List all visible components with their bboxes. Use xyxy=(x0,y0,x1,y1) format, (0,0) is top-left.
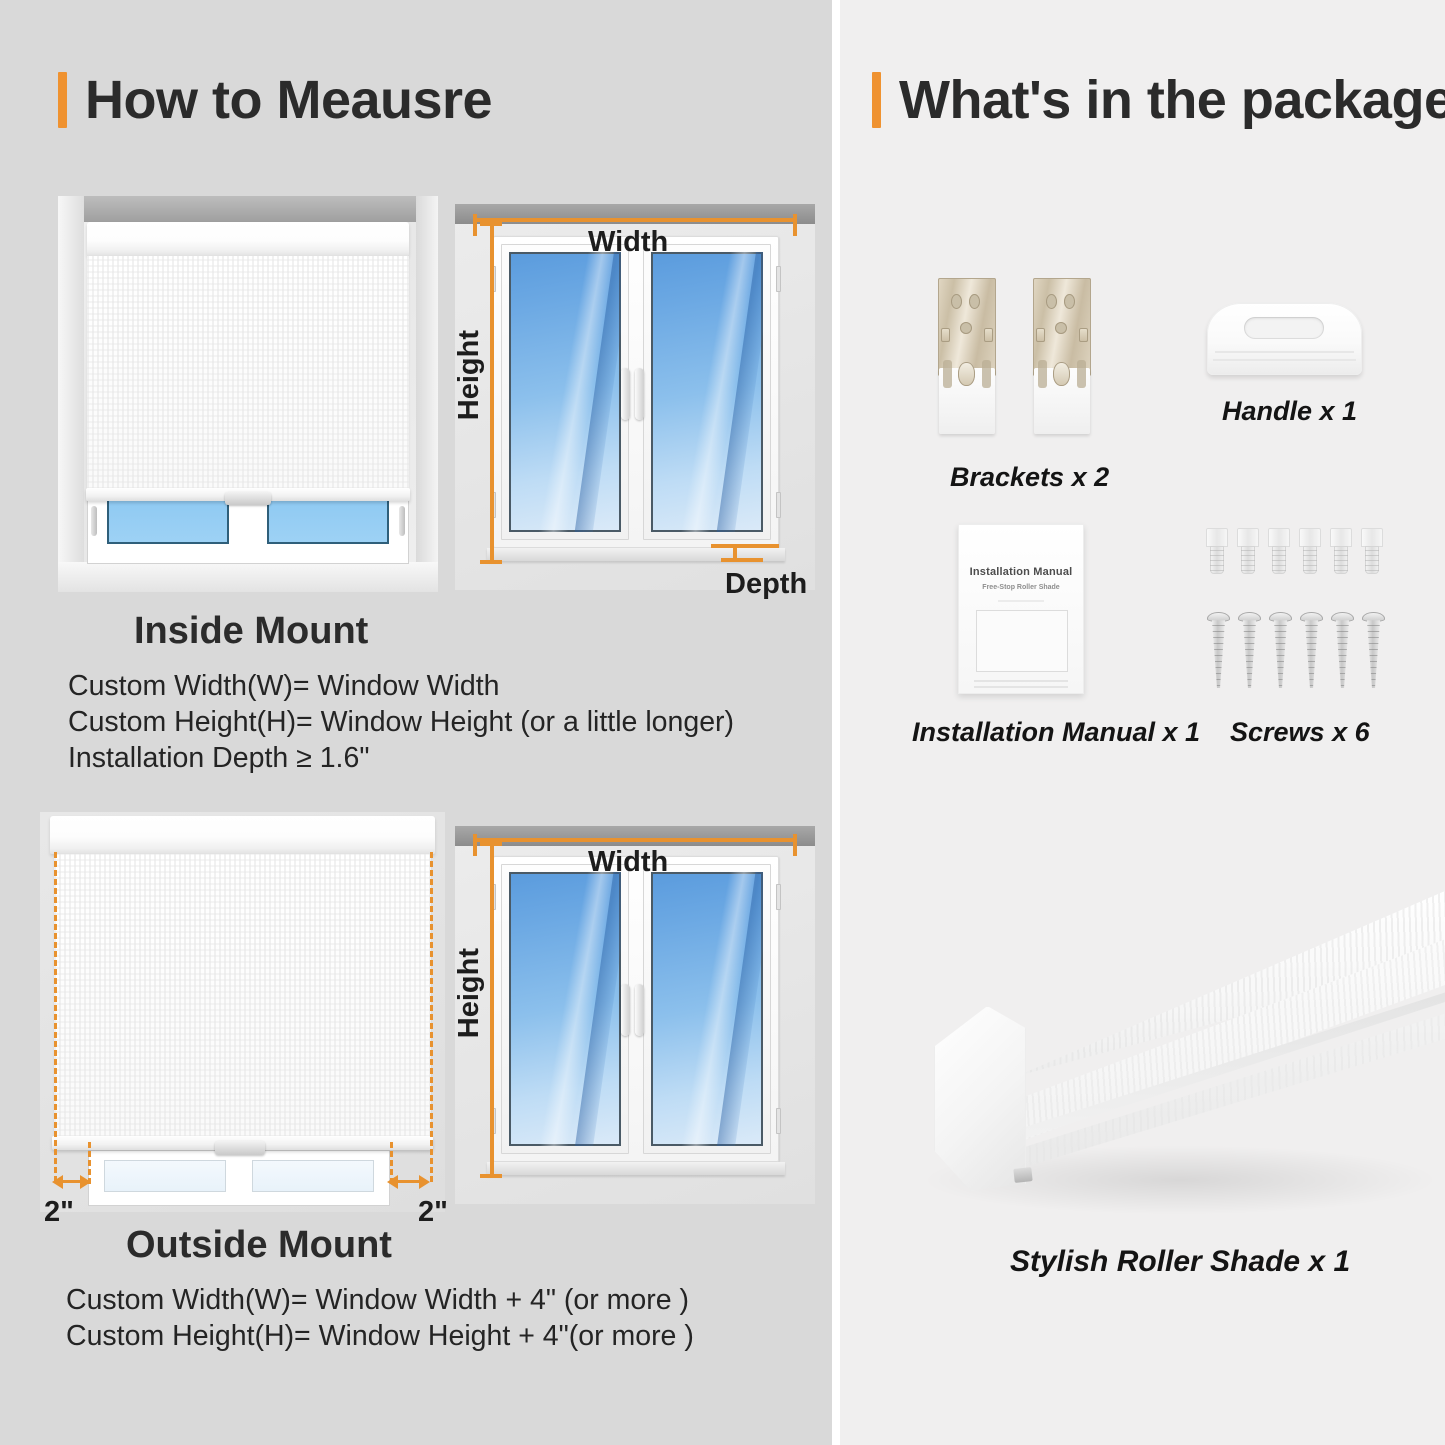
inside-mount-line-3: Installation Depth ≥ 1.6" xyxy=(68,742,369,775)
bracket-slot-left xyxy=(1038,360,1047,388)
window-sash-left xyxy=(501,864,629,1154)
height-measure-cap-bottom xyxy=(480,560,502,564)
depth-measure-line xyxy=(711,544,779,548)
width-label: Width xyxy=(588,846,668,879)
overhang-guide-right xyxy=(430,852,433,1182)
shade-pull-handle xyxy=(215,1141,265,1155)
handle-ridge xyxy=(1215,351,1354,353)
overhang-label-left: 2" xyxy=(44,1196,74,1229)
bracket-tab-right xyxy=(984,328,993,342)
accent-bar-icon xyxy=(872,72,881,128)
height-label: Height xyxy=(453,948,486,1038)
package-heading: What's in the package xyxy=(872,72,1445,128)
outside-mount-line-2: Custom Height(H)= Window Height + 4"(or … xyxy=(66,1320,694,1353)
roller-shade-item xyxy=(900,880,1445,1220)
width-measure-line xyxy=(473,218,797,222)
height-measure-cap-top xyxy=(480,842,502,846)
roller-shade-label: Stylish Roller Shade x 1 xyxy=(1010,1245,1350,1279)
bracket-tab-right xyxy=(1079,328,1088,342)
wall-anchor xyxy=(1361,528,1383,574)
bracket-hole xyxy=(951,294,962,309)
height-measure-line xyxy=(490,222,494,564)
window-sash-left xyxy=(501,244,629,540)
window-pane-left xyxy=(104,1160,226,1192)
window-handle-right-icon xyxy=(399,506,405,536)
window-pane-left xyxy=(107,498,229,544)
bracket-hole xyxy=(960,322,972,334)
shade-fabric xyxy=(87,256,409,489)
window-sash-right xyxy=(643,244,771,540)
handle-ridge xyxy=(1213,359,1356,361)
inside-mount-shade-illustration xyxy=(58,196,438,592)
window-mullion xyxy=(234,1152,246,1204)
screw xyxy=(1367,612,1380,688)
manual-cover-subtitle: Free-Stop Roller Shade xyxy=(958,584,1084,591)
how-to-measure-heading: How to Meausre xyxy=(58,72,492,128)
depth-measure-base xyxy=(721,558,763,562)
wall-anchor xyxy=(1268,528,1290,574)
window-behind-shade xyxy=(88,1150,390,1206)
window-hinge-icon xyxy=(776,266,781,292)
window-frame xyxy=(493,236,779,548)
wall-anchor xyxy=(1330,528,1352,574)
shade-fabric xyxy=(54,854,431,1137)
depth-label: Depth xyxy=(725,568,807,601)
height-measure-cap-bottom xyxy=(480,1174,502,1178)
wall-anchor xyxy=(1237,528,1259,574)
accent-bar-icon xyxy=(58,72,67,128)
height-label: Height xyxy=(453,330,486,420)
outside-mount-shade-illustration xyxy=(40,812,445,1212)
shade-cassette xyxy=(50,816,435,854)
heading-label: How to Meausre xyxy=(85,73,492,127)
width-measure-cap-left xyxy=(473,214,477,236)
window-handle-left-icon xyxy=(621,984,630,1036)
window-glass-right xyxy=(651,872,763,1146)
width-measure-cap-right xyxy=(793,834,797,856)
wall-anchor xyxy=(1299,528,1321,574)
inside-mount-line-2: Custom Height(H)= Window Height (or a li… xyxy=(68,706,734,739)
screws-label: Screws x 6 xyxy=(1230,717,1370,748)
window-hinge-icon xyxy=(776,1108,781,1134)
window-glass-right xyxy=(651,252,763,532)
shade-cassette xyxy=(87,222,409,256)
window-frame xyxy=(493,856,779,1162)
height-measure-line xyxy=(490,842,494,1178)
height-measure-cap-top xyxy=(480,222,502,226)
screw xyxy=(1212,612,1225,688)
installation-manual-label: Installation Manual x 1 xyxy=(912,717,1200,748)
outside-mount-window-diagram: Width Height xyxy=(455,826,815,1204)
width-label: Width xyxy=(588,226,668,259)
overhang-arrow-right-inner-icon xyxy=(387,1175,398,1189)
window-handle-left-icon xyxy=(621,368,630,420)
bracket-item-2 xyxy=(1033,278,1091,434)
bracket-slot-right xyxy=(982,360,991,388)
bracket-tab-left xyxy=(941,328,950,342)
brackets-label: Brackets x 2 xyxy=(950,462,1109,493)
bracket-hole xyxy=(1046,294,1057,309)
inside-mount-window-diagram: Width Height Depth xyxy=(455,204,815,590)
window-handle-left-icon xyxy=(91,506,97,536)
outside-mount-line-1: Custom Width(W)= Window Width + 4" (or m… xyxy=(66,1284,689,1317)
overhang-arrow-left-icon xyxy=(52,1175,63,1189)
roller-end-bracket-icon xyxy=(1013,1167,1032,1183)
inside-mount-line-1: Custom Width(W)= Window Width xyxy=(68,670,500,703)
handle-grip-slot xyxy=(1244,317,1324,339)
bracket-slot-right xyxy=(1077,360,1086,388)
window-lintel xyxy=(455,826,815,846)
shade-pull-handle xyxy=(225,492,271,505)
handle-label: Handle x 1 xyxy=(1222,396,1357,427)
window-handle-right-icon xyxy=(635,984,644,1036)
bracket-oval-recess xyxy=(1053,362,1070,386)
screw xyxy=(1274,612,1287,688)
overhang-arrow-left-inner-icon xyxy=(80,1175,91,1189)
overhang-guide-left xyxy=(54,852,57,1182)
bracket-item-1 xyxy=(938,278,996,434)
heading-label: What's in the package xyxy=(899,73,1445,127)
screw-group xyxy=(1210,612,1386,688)
bracket-hole xyxy=(1064,294,1075,309)
manual-rule xyxy=(998,600,1044,602)
manual-cover-title: Installation Manual xyxy=(958,566,1084,578)
bracket-slot-left xyxy=(943,360,952,388)
roller-end-cap xyxy=(934,1006,1026,1191)
width-measure-cap-right xyxy=(793,214,797,236)
infographic-page: How to Meausre What's in the package xyxy=(0,0,1445,1445)
bracket-hole xyxy=(969,294,980,309)
window-sill xyxy=(487,1162,785,1175)
reveal-top-edge xyxy=(58,196,438,222)
overhang-arrow-right-icon xyxy=(419,1175,430,1189)
width-measure-cap-left xyxy=(473,834,477,856)
manual-rule xyxy=(974,686,1068,688)
wall-anchor xyxy=(1206,528,1228,574)
window-handle-right-icon xyxy=(635,368,644,420)
screw xyxy=(1336,612,1349,688)
bracket-oval-recess xyxy=(958,362,975,386)
screw xyxy=(1305,612,1318,688)
manual-rule xyxy=(974,680,1068,682)
bracket-hole xyxy=(1055,322,1067,334)
reveal-right-jamb xyxy=(416,196,438,592)
screw xyxy=(1243,612,1256,688)
reveal-left-jamb xyxy=(58,196,84,592)
width-measure-line xyxy=(473,838,797,842)
installation-manual-item: Installation Manual Free-Stop Roller Sha… xyxy=(958,524,1084,694)
window-pane-right xyxy=(267,498,389,544)
window-hinge-icon xyxy=(776,884,781,910)
reveal-sill xyxy=(58,562,438,592)
window-pane-right xyxy=(252,1160,374,1192)
window-hinge-icon xyxy=(776,492,781,518)
panel-divider xyxy=(832,0,840,1445)
inside-mount-title: Inside Mount xyxy=(134,610,368,653)
outside-mount-title: Outside Mount xyxy=(126,1224,392,1267)
window-glass-left xyxy=(509,252,621,532)
wall-anchor-group xyxy=(1206,528,1386,574)
manual-cover-figure xyxy=(976,610,1068,672)
window-sash-right xyxy=(643,864,771,1154)
bracket-tab-left xyxy=(1036,328,1045,342)
overhang-label-right: 2" xyxy=(418,1196,448,1229)
handle-item xyxy=(1207,303,1362,375)
window-glass-left xyxy=(509,872,621,1146)
